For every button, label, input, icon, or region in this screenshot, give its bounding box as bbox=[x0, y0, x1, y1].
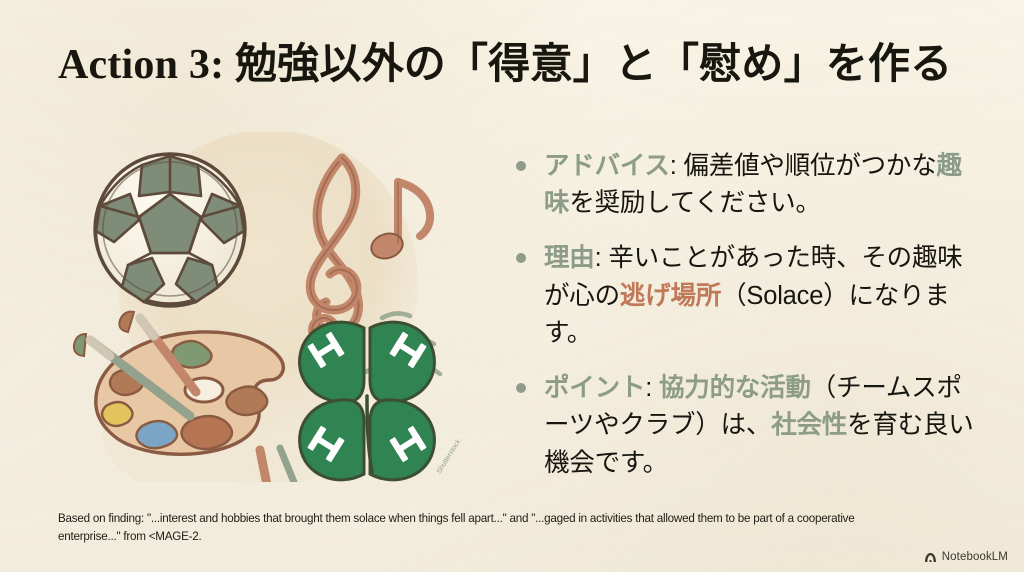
bullet-dot-icon bbox=[516, 253, 526, 263]
soccer-ball bbox=[95, 154, 245, 307]
bullet-1-segment-2: : 偏差値や順位がつかな bbox=[670, 152, 937, 180]
list-item: 理由: 辛いことがあった時、その趣味が心の逃げ場所（Solace）になります。 bbox=[512, 240, 982, 352]
stock-watermark-text: Shutterstock bbox=[436, 438, 463, 475]
bullet-list: アドバイス: 偏差値や順位がつかな趣味を奨励してください。 理由: 辛いことがあ… bbox=[512, 148, 982, 482]
list-item: ポイント: 協力的な活動（チームスポーツやクラブ）は、社会性を育む良い機会です。 bbox=[512, 370, 982, 482]
page-title: Action 3: 勉強以外の「得意」と「慰め」を作る bbox=[58, 42, 978, 89]
bullet-1-segment-4: を奨励してください。 bbox=[569, 189, 820, 217]
bullet-2-segment-3: 逃げ場所 bbox=[620, 282, 721, 310]
bullet-1-segment-1: アドバイス bbox=[544, 152, 670, 180]
bullet-3-segment-3: 協力的な活動 bbox=[659, 374, 811, 402]
notebooklm-label: NotebookLM bbox=[942, 551, 1008, 563]
bullet-3-segment-5: 社会性 bbox=[771, 411, 847, 439]
bullet-3-segment-2: : bbox=[645, 374, 659, 402]
notebooklm-watermark: NotebookLM bbox=[924, 551, 1008, 563]
bullet-dot-icon bbox=[516, 161, 526, 171]
source-footnote: Based on finding: "...interest and hobbi… bbox=[58, 510, 909, 545]
bullet-2-segment-1: 理由 bbox=[544, 244, 595, 272]
notebooklm-logo-icon bbox=[924, 552, 937, 563]
hobbies-illustration: Shutterstock bbox=[72, 132, 472, 482]
list-item: アドバイス: 偏差値や順位がつかな趣味を奨励してください。 bbox=[512, 148, 982, 222]
slide-canvas: Action 3: 勉強以外の「得意」と「慰め」を作る bbox=[0, 0, 1024, 572]
bullet-dot-icon bbox=[516, 383, 526, 393]
bullet-3-segment-1: ポイント bbox=[544, 374, 645, 402]
